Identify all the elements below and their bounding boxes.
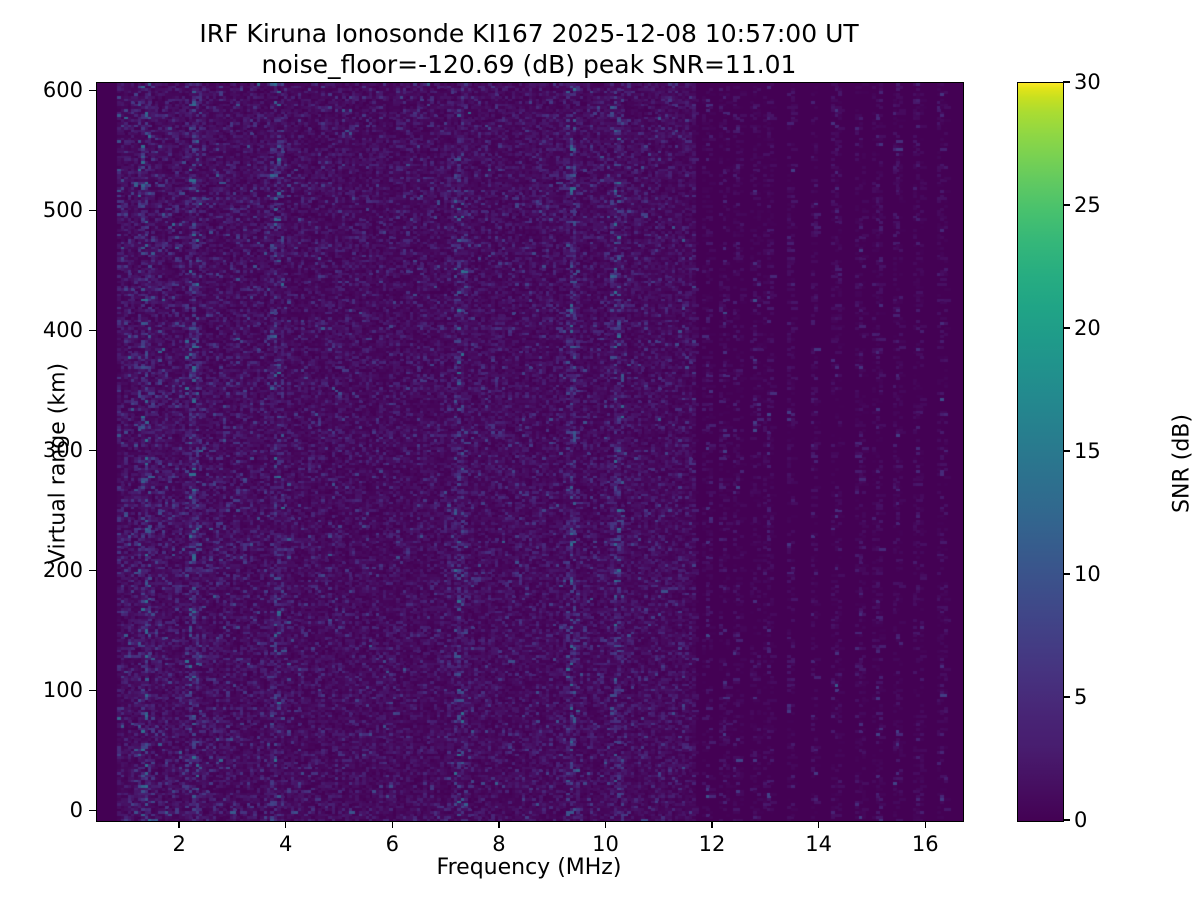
x-tick-mark [392,821,393,828]
colorbar-tick-mark [1063,450,1070,451]
colorbar-tick-mark [1063,819,1070,820]
colorbar-tick-label: 10 [1074,562,1101,586]
x-tick-label: 14 [784,832,854,856]
colorbar-tick-mark [1063,696,1070,697]
colorbar-tick-mark [1063,81,1070,82]
y-tick-label: 500 [3,198,83,222]
colorbar-tick-label: 0 [1074,808,1087,832]
x-tick-mark [925,821,926,828]
y-tick-label: 300 [3,438,83,462]
x-tick-label: 6 [357,832,427,856]
colorbar-tick-mark [1063,204,1070,205]
colorbar-tick-label: 25 [1074,193,1101,217]
x-tick-mark [178,821,179,828]
y-tick-mark [89,810,96,811]
heatmap-axes [96,82,964,822]
title-line-1: IRF Kiruna Ionosonde KI167 2025-12-08 10… [96,18,962,49]
colorbar-tick-label: 5 [1074,685,1087,709]
colorbar [1017,82,1064,822]
colorbar-tick-label: 20 [1074,316,1101,340]
x-tick-label: 12 [677,832,747,856]
y-tick-label: 600 [3,78,83,102]
y-tick-label: 200 [3,558,83,582]
x-tick-mark [711,821,712,828]
colorbar-tick-mark [1063,327,1070,328]
x-tick-label: 4 [251,832,321,856]
x-tick-mark [818,821,819,828]
colorbar-tick-mark [1063,573,1070,574]
colorbar-tick-label: 30 [1074,70,1101,94]
x-tick-label: 8 [464,832,534,856]
x-tick-label: 10 [570,832,640,856]
y-tick-label: 0 [3,798,83,822]
y-tick-mark [89,330,96,331]
figure-canvas: IRF Kiruna Ionosonde KI167 2025-12-08 10… [0,0,1200,900]
x-tick-label: 16 [890,832,960,856]
x-tick-mark [285,821,286,828]
title-line-2: noise_floor=-120.69 (dB) peak SNR=11.01 [96,49,962,80]
x-tick-mark [498,821,499,828]
ionogram-heatmap [97,83,963,821]
colorbar-tick-label: 15 [1074,439,1101,463]
x-tick-label: 2 [144,832,214,856]
y-tick-mark [89,570,96,571]
y-tick-label: 100 [3,678,83,702]
x-axis-label: Frequency (MHz) [96,855,962,880]
y-tick-mark [89,450,96,451]
y-axis-label: Virtual range (km) [46,314,71,614]
colorbar-label: SNR (dB) [1170,314,1195,614]
y-tick-label: 400 [3,318,83,342]
y-tick-mark [89,210,96,211]
plot-title: IRF Kiruna Ionosonde KI167 2025-12-08 10… [96,18,962,80]
y-tick-mark [89,90,96,91]
y-tick-mark [89,690,96,691]
x-tick-mark [605,821,606,828]
